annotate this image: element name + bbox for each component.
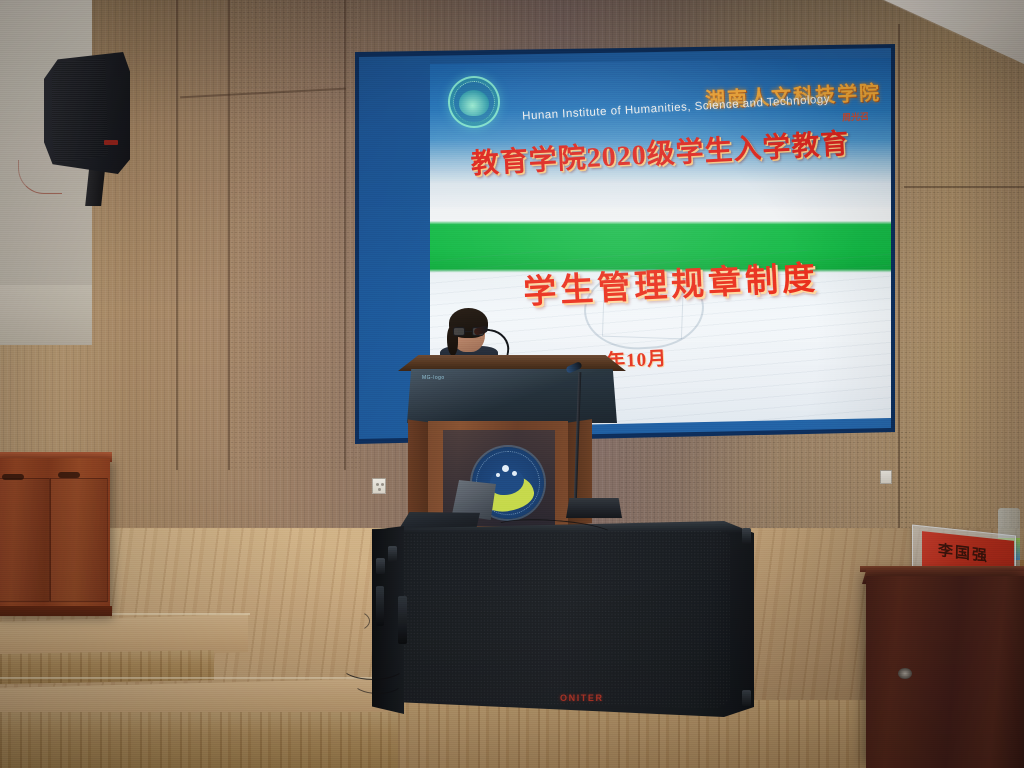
speaker-grille-mesh [400, 530, 730, 708]
step-nosing [0, 677, 402, 679]
wall-power-outlet[interactable] [880, 470, 892, 484]
speaker-grille [52, 58, 108, 166]
wall-seam [228, 0, 230, 470]
speaker-rigging-bracket [376, 558, 385, 574]
speaker-rigging-bracket [742, 690, 751, 706]
wall-seam [898, 24, 900, 544]
acoustic-panel-right [900, 40, 1024, 540]
cabinet-base-trim [0, 606, 112, 616]
seal-emblem [459, 90, 489, 116]
speaker-handle[interactable] [398, 596, 407, 644]
wall-seam-horizontal [904, 186, 1024, 188]
step-grain [0, 712, 410, 768]
podium-brand-label: MG-logo [422, 375, 445, 381]
speaker-rigging-bracket [742, 528, 751, 544]
power-cable [316, 608, 370, 634]
auditorium-photo-scene: 湖南人文科技学院 Hunan Institute of Humanities, … [0, 0, 1024, 768]
speaker-rigging-bracket [388, 546, 397, 562]
speaker-handle[interactable] [376, 586, 384, 626]
speaker-brand-badge [104, 140, 118, 145]
cabinet-door-right[interactable] [50, 478, 108, 602]
plaster-wall-left-lower [0, 285, 92, 345]
glasses-bridge [465, 331, 472, 332]
speaker-brand-logo: ONITER [560, 693, 604, 703]
side-desk[interactable] [866, 576, 1024, 768]
wall-power-outlet[interactable] [372, 478, 386, 494]
cabinet-handle[interactable] [58, 472, 80, 478]
university-seal-logo [448, 76, 500, 128]
emblem-star [496, 473, 500, 477]
emblem-star [512, 471, 517, 476]
wall-seam [344, 0, 346, 470]
wall-seam [176, 0, 178, 470]
emblem-star [502, 465, 509, 472]
cabinet-door-left[interactable] [0, 478, 50, 602]
acoustic-panel-left [230, 0, 360, 470]
floor-microphone-base [566, 498, 622, 518]
glasses-lens-left [453, 327, 465, 336]
cabinet-handle[interactable] [2, 474, 24, 480]
power-cable [352, 668, 404, 694]
desk-cable-grommet [898, 668, 912, 679]
podium-top-surface [398, 355, 626, 371]
